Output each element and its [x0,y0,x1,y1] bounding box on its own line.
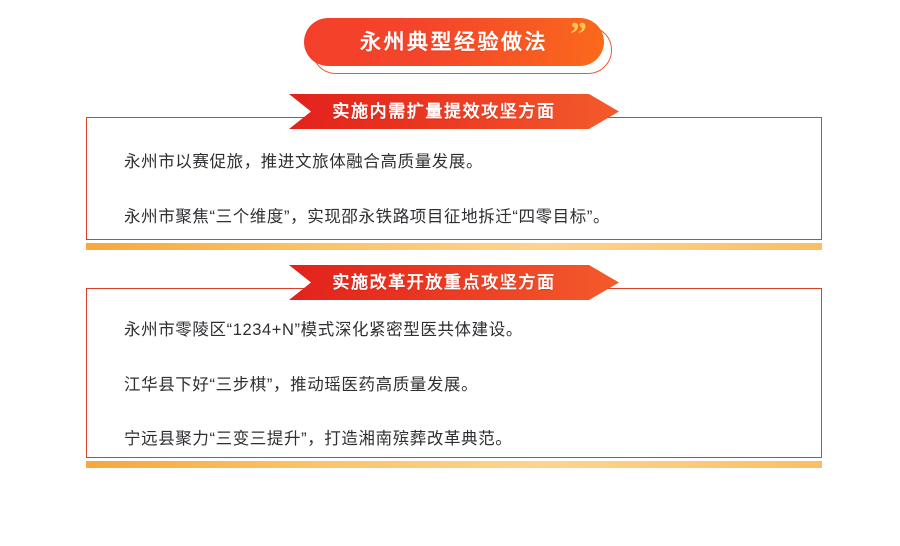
infographic-page: 永州典型经验做法 ” 实施内需扩量提效攻坚方面 永州市以赛促旅，推进文旅体融合高… [0,0,900,546]
section-heading-banner: 实施内需扩量提效攻坚方面 [289,94,619,129]
page-title: 永州典型经验做法 [360,32,548,53]
quotation-mark-icon: ” [570,18,586,52]
list-item: 永州市聚焦“三个维度”，实现邵永铁路项目征地拆迁“四零目标”。 [124,209,794,226]
section-item-list: 永州市零陵区“1234+N”模式深化紧密型医共体建设。 江华县下好“三步棋”，推… [124,322,794,448]
section-heading-label: 实施改革开放重点攻坚方面 [332,274,555,291]
section-accent-bar [86,461,822,468]
section-accent-bar [86,243,822,250]
list-item: 永州市零陵区“1234+N”模式深化紧密型医共体建设。 [124,322,794,339]
list-item: 永州市以赛促旅，推进文旅体融合高质量发展。 [124,154,794,171]
header-rule-right [620,288,822,289]
section-heading-banner: 实施改革开放重点攻坚方面 [289,265,619,300]
list-item: 江华县下好“三步棋”，推动瑶医药高质量发展。 [124,377,794,394]
header-rule-left [86,288,295,289]
header-rule-right [620,117,822,118]
section-item-list: 永州市以赛促旅，推进文旅体融合高质量发展。 永州市聚焦“三个维度”，实现邵永铁路… [124,154,794,225]
title-pill: 永州典型经验做法 [304,18,604,66]
header-rule-left [86,117,295,118]
title-banner: 永州典型经验做法 ” [302,16,614,78]
list-item: 宁远县聚力“三变三提升”，打造湘南殡葬改革典范。 [124,431,794,448]
section-heading-label: 实施内需扩量提效攻坚方面 [332,103,555,120]
